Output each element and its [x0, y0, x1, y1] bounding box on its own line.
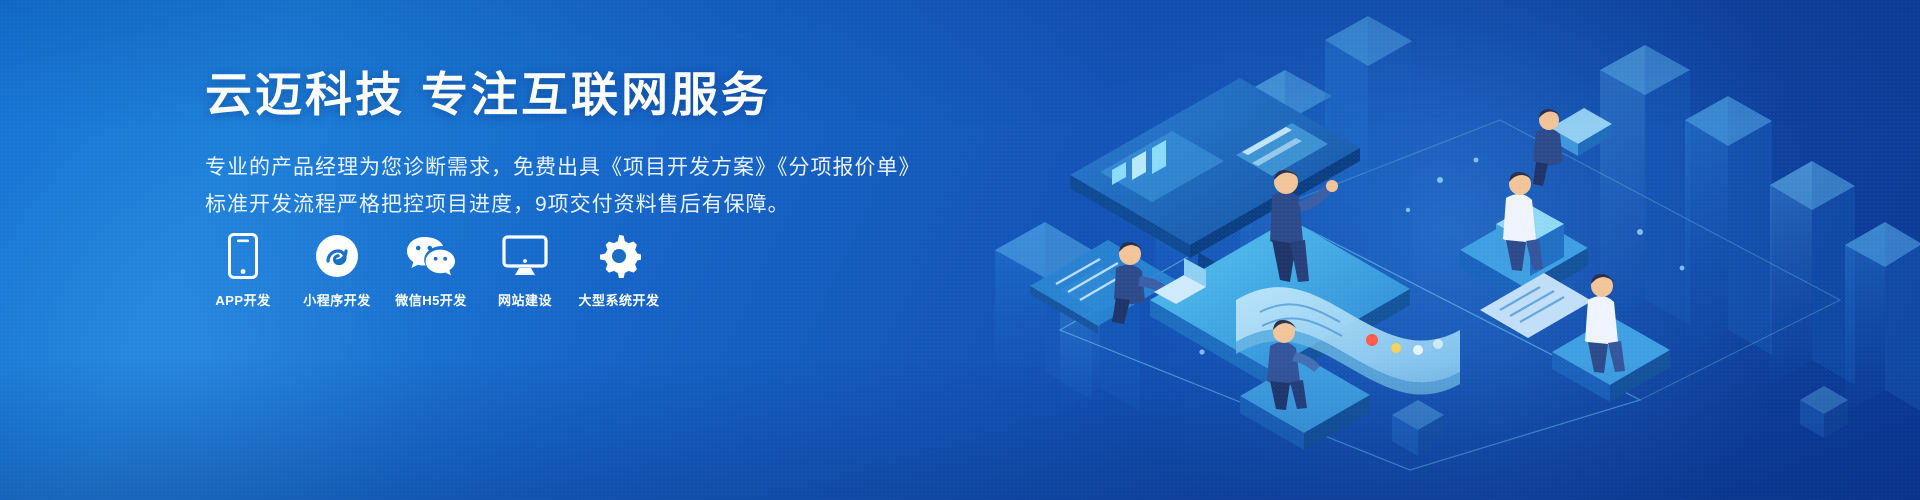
service-item-mini-program[interactable]: 小程序开发 [299, 232, 375, 309]
hero-copy: 云迈科技 专注互联网服务 专业的产品经理为您诊断需求，免费出具《项目开发方案》《… [205, 68, 925, 224]
hero-illustration [940, 0, 1920, 500]
service-item-wechat-h5[interactable]: 微信H5开发 [393, 232, 469, 309]
wechat-icon [406, 232, 456, 280]
monitor-icon [502, 232, 548, 280]
service-label: 微信H5开发 [395, 290, 467, 309]
hero-subtitle: 专业的产品经理为您诊断需求，免费出具《项目开发方案》《分项报价单》 标准开发流程… [205, 150, 925, 224]
service-item-large-system[interactable]: 大型系统开发 [581, 232, 657, 309]
service-list: APP开发 小程序开发 [205, 232, 657, 309]
service-item-website[interactable]: 网站建设 [487, 232, 563, 309]
background-glow-right [1080, 0, 1820, 500]
service-label: 小程序开发 [303, 290, 371, 309]
service-label: APP开发 [215, 290, 270, 309]
page-title: 云迈科技 专注互联网服务 [205, 68, 925, 122]
mini-program-icon [315, 232, 359, 280]
subtitle-line-2: 标准开发流程严格把控项目进度，9项交付资料售后有保障。 [205, 187, 925, 224]
hero-banner: 云迈科技 专注互联网服务 专业的产品经理为您诊断需求，免费出具《项目开发方案》《… [0, 0, 1920, 500]
service-label: 网站建设 [498, 290, 552, 309]
gear-icon [597, 232, 641, 280]
service-item-app[interactable]: APP开发 [205, 232, 281, 309]
subtitle-line-1: 专业的产品经理为您诊断需求，免费出具《项目开发方案》《分项报价单》 [205, 150, 925, 187]
mobile-phone-icon [228, 232, 258, 280]
service-label: 大型系统开发 [579, 290, 660, 309]
